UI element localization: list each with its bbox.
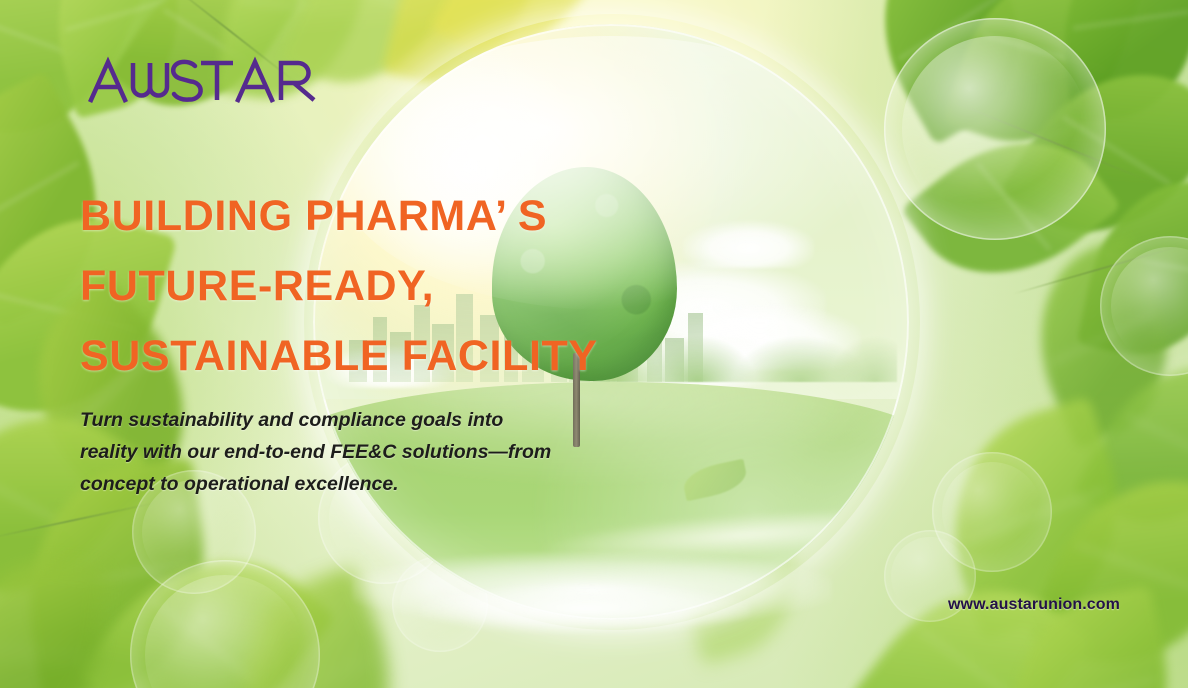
headline-line-1: BUILDING PHARMA’ S — [80, 181, 720, 251]
leaf-vein — [1126, 415, 1188, 468]
subtitle-line-1: Turn sustainability and compliance goals… — [80, 404, 640, 436]
austar-logo[interactable] — [88, 56, 324, 106]
subtitle: Turn sustainability and compliance goals… — [80, 404, 640, 500]
headline-line-3: SUSTAINABLE FACILITY — [80, 321, 720, 391]
sphere-base-foam — [420, 584, 750, 634]
subtitle-line-3: concept to operational excellence. — [80, 468, 640, 500]
headline-line-2: FUTURE-READY, — [80, 251, 720, 321]
leaf-vein — [1022, 678, 1156, 688]
subtitle-line-2: reality with our end-to-end FEE&C soluti… — [80, 436, 640, 468]
leaf-vein — [1051, 313, 1154, 364]
leaf-vein — [1077, 544, 1188, 594]
leaf-vein — [1073, 11, 1188, 29]
leaf-vein — [919, 628, 1027, 688]
leaf-vein — [976, 163, 1049, 250]
leaf-vein — [255, 655, 377, 688]
page-title: BUILDING PHARMA’ S FUTURE-READY, SUSTAIN… — [80, 181, 720, 391]
website-url[interactable]: www.austarunion.com — [948, 596, 1120, 614]
banner-canvas: BUILDING PHARMA’ S FUTURE-READY, SUSTAIN… — [0, 0, 1188, 688]
leaf-vein — [0, 647, 86, 657]
leaf-vein — [0, 162, 79, 230]
leaf-icon — [0, 553, 108, 688]
